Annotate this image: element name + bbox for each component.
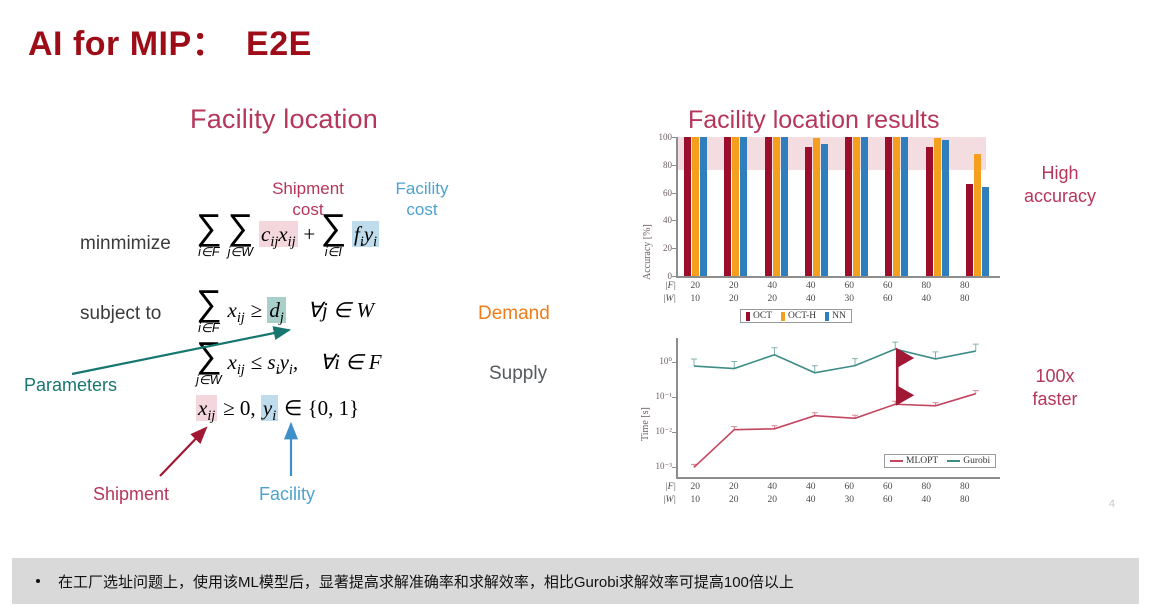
bar-nn <box>740 137 747 276</box>
legend-label: MLOPT <box>906 456 938 466</box>
bar-chart-legend: OCTOCT-HNN <box>740 309 852 323</box>
bar-chart-x-axis <box>676 276 1000 278</box>
bar-group <box>966 137 989 276</box>
right-section-heading: Facility location results <box>688 106 939 135</box>
parameters-label: Parameters <box>24 375 117 396</box>
legend-item-oct-h: OCT-H <box>781 311 816 321</box>
line-x-cell: 80 <box>907 482 946 492</box>
bar-group <box>724 137 747 276</box>
minimize-label: minmimize <box>80 233 171 255</box>
bar-x-cell: 40 <box>792 294 831 304</box>
x-ij-term-c1: xij <box>228 298 245 322</box>
page-title: AI for MIP： E2E <box>28 16 312 65</box>
bar-x-cell: 20 <box>753 294 792 304</box>
line-x-cell: 30 <box>830 495 869 505</box>
bar-group <box>926 137 949 276</box>
bar-group <box>805 137 828 276</box>
bar-y-tick: 0 <box>638 271 672 281</box>
error-bar <box>892 342 898 349</box>
domain-constraint-expression: xij ≥ 0, yi ∈ {0, 1} <box>196 396 359 425</box>
bullet-icon <box>36 579 40 583</box>
bar-y-tick: 60 <box>638 188 672 198</box>
supply-constraint-expression: ∑j∈W xij ≤ siyi, ∀i ∈ F <box>196 340 382 387</box>
bar-nn <box>901 137 908 276</box>
legend-item-mlopt: MLOPT <box>890 456 938 466</box>
shipment-cost-term: cijxij <box>259 221 298 247</box>
bar-nn <box>821 144 828 276</box>
line-x-cell: 40 <box>907 495 946 505</box>
legend-line-swatch <box>890 460 903 462</box>
supply-term: siyi, <box>267 350 298 374</box>
bar-oct <box>885 137 892 276</box>
facility-cost-term: fiyi <box>352 221 379 247</box>
line-x-cell: 40 <box>792 482 831 492</box>
geq-operator-c1: ≥ <box>251 298 268 322</box>
footer-bar: 在工厂选址问题上，使用该ML模型后，显著提高求解准确率和求解效率，相比Gurob… <box>12 558 1139 604</box>
geq-zero: ≥ 0, <box>223 396 261 420</box>
bar-nn <box>982 187 989 276</box>
bar-group <box>845 137 868 276</box>
legend-line-swatch <box>947 460 960 462</box>
bar-x-cell: 10 <box>676 294 715 304</box>
line-y-tick: 10⁻¹ <box>634 391 672 402</box>
left-section-heading: Facility location <box>190 104 378 135</box>
line-series-gurobi <box>694 349 976 373</box>
bar-x-cell: 40 <box>753 281 792 291</box>
legend-swatch <box>825 312 829 321</box>
shipment-arrow <box>160 428 206 476</box>
bar-oct <box>805 147 812 276</box>
line-x-cell: 40 <box>753 482 792 492</box>
line-chart-x-axis <box>676 477 1000 479</box>
line-x-cell: 20 <box>753 495 792 505</box>
legend-swatch <box>781 312 785 321</box>
bar-group <box>885 137 908 276</box>
bar-x-cell: 40 <box>907 294 946 304</box>
bar-x-head: |W| <box>650 294 676 304</box>
bar-chart-plot-area <box>678 137 1000 276</box>
bar-oct-h <box>813 138 820 276</box>
bar-nn <box>942 140 949 276</box>
line-x-cell: 80 <box>946 495 985 505</box>
bar-oct-h <box>934 138 941 276</box>
sum-j-in-W-c2: ∑j∈W <box>196 340 222 387</box>
legend-swatch <box>746 312 750 321</box>
shipment-label: Shipment <box>93 484 169 505</box>
error-bar <box>973 344 979 351</box>
line-chart-x-row-F: |F|2020404060608080 <box>650 482 984 492</box>
bar-x-cell: 80 <box>907 281 946 291</box>
bar-chart-x-row-F: |F|2020404060608080 <box>650 281 984 291</box>
facility-label: Facility <box>259 484 315 505</box>
legend-label: Gurobi <box>963 456 990 466</box>
line-x-cell: 60 <box>869 482 908 492</box>
error-bar <box>973 391 979 394</box>
bar-x-cell: 20 <box>715 294 754 304</box>
faster-note: 100x faster <box>1000 365 1110 412</box>
bar-x-cell: 30 <box>830 294 869 304</box>
bar-oct-h <box>692 137 699 276</box>
line-x-cell: 20 <box>715 495 754 505</box>
demand-term: dj <box>267 297 285 323</box>
bar-nn <box>861 137 868 276</box>
runtime-line-chart: Time [s] 10⁻³10⁻²10⁻¹10⁰ |F|202040406060… <box>632 336 1004 526</box>
error-bar <box>772 348 778 355</box>
line-y-tick: 10⁻³ <box>634 461 672 472</box>
legend-item-oct: OCT <box>746 311 772 321</box>
bar-oct <box>926 147 933 276</box>
forall-j-in-W: ∀j ∈ W <box>292 298 374 322</box>
page-number: 4 <box>1109 498 1115 510</box>
legend-label: NN <box>832 311 846 321</box>
footer-text: 在工厂选址问题上，使用该ML模型后，显著提高求解准确率和求解效率，相比Gurob… <box>58 571 794 592</box>
sum-i-in-F-c1: ∑i∈F <box>196 288 222 335</box>
line-x-head: |F| <box>650 482 676 492</box>
bar-oct-h <box>974 154 981 276</box>
line-x-cell: 40 <box>792 495 831 505</box>
legend-item-gurobi: Gurobi <box>947 456 990 466</box>
plus-operator: + <box>303 222 320 246</box>
legend-label: OCT-H <box>788 311 816 321</box>
bar-nn <box>781 137 788 276</box>
line-chart-legend: MLOPTGurobi <box>884 454 996 468</box>
leq-operator-c2: ≤ <box>251 350 268 374</box>
bar-group <box>684 137 707 276</box>
legend-item-nn: NN <box>825 311 846 321</box>
bar-y-tick: 20 <box>638 243 672 253</box>
bar-group <box>765 137 788 276</box>
sum-i-in-I: ∑i∈I <box>321 212 347 259</box>
accuracy-bar-chart: Accuracy [%] 020406080100 |F|20204040606… <box>632 135 1004 325</box>
line-chart-x-row-W: |W|1020204030604080 <box>650 495 984 505</box>
demand-constraint-expression: ∑i∈F xij ≥ dj ∀j ∈ W <box>196 288 374 335</box>
high-accuracy-note: High accuracy <box>1005 162 1115 209</box>
y-i-variable: yi <box>261 395 278 421</box>
bar-x-cell: 80 <box>946 294 985 304</box>
bar-oct-h <box>773 137 780 276</box>
bar-nn <box>700 137 707 276</box>
bar-x-cell: 60 <box>869 281 908 291</box>
x-ij-variable: xij <box>196 395 217 421</box>
supply-label: Supply <box>489 363 547 385</box>
bar-x-cell: 40 <box>792 281 831 291</box>
bar-oct-h <box>732 137 739 276</box>
line-x-cell: 20 <box>676 482 715 492</box>
error-bar <box>691 359 697 366</box>
bar-oct <box>765 137 772 276</box>
sum-i-in-F: ∑i∈F <box>196 212 222 259</box>
bar-oct <box>724 137 731 276</box>
forall-i-in-F: ∀i ∈ F <box>304 350 382 374</box>
x-ij-term-c2: xij <box>228 350 245 374</box>
line-x-cell: 60 <box>830 482 869 492</box>
bar-y-tick: 100 <box>638 132 672 142</box>
bar-x-cell: 20 <box>715 281 754 291</box>
bar-x-cell: 20 <box>676 281 715 291</box>
bar-oct <box>966 184 973 276</box>
objective-expression: ∑i∈F ∑j∈W cijxij + ∑i∈I fiyi <box>196 212 379 259</box>
bar-oct <box>845 137 852 276</box>
facility-cost-label: Facility cost <box>378 178 466 221</box>
bar-y-tick: 80 <box>638 160 672 170</box>
line-x-cell: 10 <box>676 495 715 505</box>
sum-j-in-W: ∑j∈W <box>228 212 254 259</box>
line-y-tick: 10⁰ <box>634 356 672 367</box>
bar-x-cell: 80 <box>946 281 985 291</box>
in-binary-set: ∈ {0, 1} <box>284 396 359 420</box>
bar-x-cell: 60 <box>830 281 869 291</box>
line-x-cell: 20 <box>715 482 754 492</box>
bar-oct-h <box>893 137 900 276</box>
line-y-tick: 10⁻² <box>634 426 672 437</box>
legend-label: OCT <box>753 311 772 321</box>
line-x-cell: 60 <box>869 495 908 505</box>
line-x-cell: 80 <box>946 482 985 492</box>
bar-x-cell: 60 <box>869 294 908 304</box>
bar-oct <box>684 137 691 276</box>
bar-x-head: |F| <box>650 281 676 291</box>
bar-y-tick: 40 <box>638 215 672 225</box>
bar-chart-x-row-W: |W|1020204030604080 <box>650 294 984 304</box>
bar-oct-h <box>853 137 860 276</box>
demand-label: Demand <box>478 303 550 325</box>
line-x-head: |W| <box>650 495 676 505</box>
subject-to-label: subject to <box>80 303 161 325</box>
